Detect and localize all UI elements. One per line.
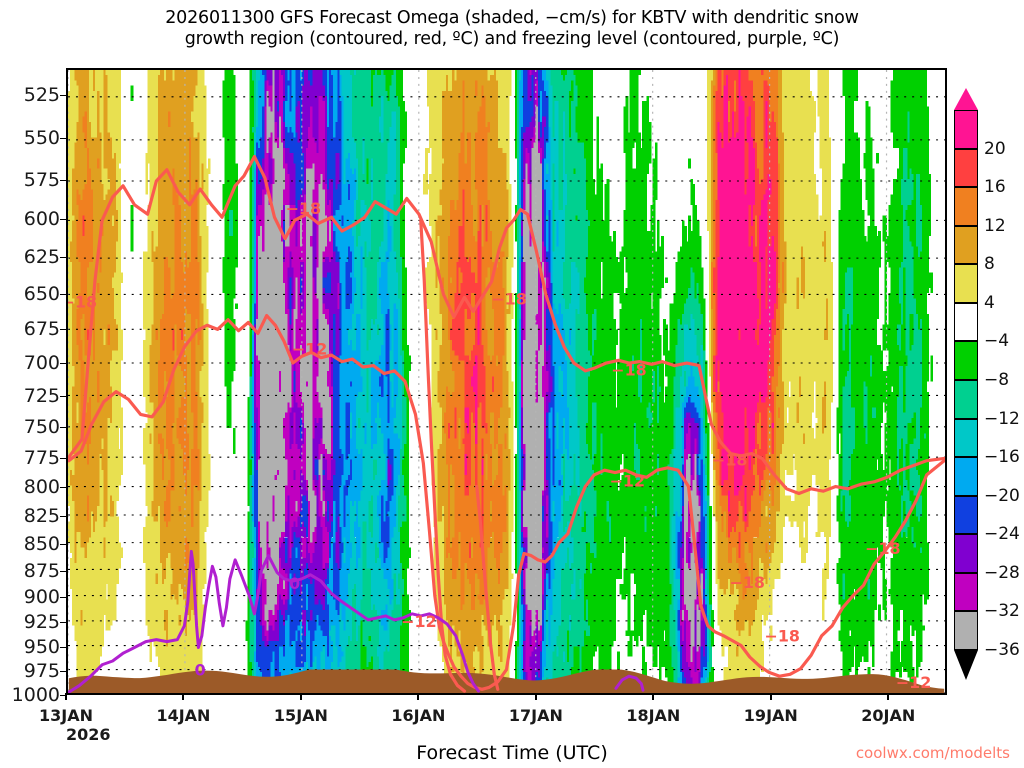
contour-label: −12 [292,339,327,358]
x-axis-tick-label: 16JAN [391,706,445,725]
contour-label: −18 [286,199,321,218]
y-axis-tick-label: 675 [24,318,60,340]
contour-label: −18 [491,290,526,309]
source-watermark: coolwx.com/modelts [856,744,1010,762]
y-axis-tick-label: 525 [24,84,60,106]
plot-area: −18−18−12−18−18−12−18−18−18−18−12−1200 [66,68,947,695]
y-axis-tick-label: 650 [24,283,60,305]
contour-label: −18 [68,292,97,311]
x-axis-tick-label: 19JAN [744,706,798,725]
x-axis-tick-mark [535,693,537,700]
contour-label: −18 [611,361,646,380]
x-axis-tick-mark [417,693,419,700]
y-axis-tick-label: 725 [24,385,60,407]
y-axis-tick-label: 975 [24,660,60,682]
colorbar-over-arrow [954,88,978,110]
y-axis-tick-label: 800 [24,476,60,498]
contour-label: 0 [289,574,300,593]
colorbar-tick-label: 4 [984,293,995,313]
x-axis-tick-mark [65,693,67,700]
dendritic-snow-growth-contour-upper [69,157,944,494]
colorbar-tick-label: −20 [984,486,1020,506]
y-axis-tick-label: 1000 [12,684,60,706]
colorbar-tick-label: −32 [984,601,1020,621]
contour-label: −18 [730,573,765,592]
x-axis-tick-mark [887,693,889,700]
colorbar-tick-label: 16 [984,177,1006,197]
colorbar-tick-label: −12 [984,409,1020,429]
x-axis-tick-label: 15JAN [274,706,328,725]
dendritic-snow-growth-contour-lower [69,316,944,690]
colorbar-tick-label: 8 [984,254,995,274]
y-axis-tick-label: 750 [24,416,60,438]
contour-label: −18 [865,539,900,558]
y-axis-tick-label: 825 [24,505,60,527]
y-axis-tick-label: 900 [24,586,60,608]
colorbar-tick-label: 12 [984,216,1006,236]
colorbar-under-arrow [954,650,978,680]
x-axis-tick-mark [182,693,184,700]
y-axis-tick-label: 575 [24,169,60,191]
colorbar-tick-label: 20 [984,139,1006,159]
x-axis-tick-label: 13JAN [39,706,93,725]
contour-label: 0 [195,661,206,680]
x-axis-tick-mark [770,693,772,700]
x-axis-tick-label: 20JAN [861,706,915,725]
contour-label: −18 [712,451,747,470]
x-axis-tick-mark [652,693,654,700]
x-axis-tick-label: 17JAN [509,706,563,725]
colorbar-tick-label: −28 [984,563,1020,583]
contour-layer: −18−18−12−18−18−12−18−18−18−18−12−1200 [68,70,945,693]
y-axis-tick-label: 925 [24,611,60,633]
x-axis-tick-mark [300,693,302,700]
y-axis-tick-label: 600 [24,208,60,230]
y-axis-labels: 5255505756006256506757007257507758008258… [0,68,60,695]
colorbar-tick-label: −16 [984,447,1020,467]
contour-label: −12 [610,472,645,491]
colorbar-tick-label: −24 [984,524,1020,544]
chart-title-line-1: 2026011300 GFS Forecast Omega (shaded, −… [0,8,1024,29]
y-axis-tick-label: 950 [24,636,60,658]
y-axis-tick-label: 625 [24,246,60,268]
chart-title: 2026011300 GFS Forecast Omega (shaded, −… [0,8,1024,50]
contour-label: −12 [401,612,436,631]
colorbar-tick-label: −4 [984,331,1009,351]
chart-page: 2026011300 GFS Forecast Omega (shaded, −… [0,0,1024,768]
contour-label: −12 [896,673,931,692]
chart-title-line-2: growth region (contoured, red, ºC) and f… [0,29,1024,50]
y-axis-tick-label: 775 [24,447,60,469]
y-axis-tick-label: 875 [24,560,60,582]
colorbar-labels: 20161284−4−8−12−16−20−24−28−32−36 [954,110,1024,650]
x-axis-tick-label: 14JAN [156,706,210,725]
colorbar-tick-label: −36 [984,640,1020,660]
dendritic-snow-growth-contour-branch-2 [477,487,498,690]
y-axis-tick-label: 700 [24,352,60,374]
y-axis-tick-label: 850 [24,533,60,555]
contour-label: −18 [765,627,800,646]
colorbar-tick-label: −8 [984,370,1009,390]
y-axis-tick-label: 550 [24,127,60,149]
x-axis-tick-label: 18JAN [626,706,680,725]
